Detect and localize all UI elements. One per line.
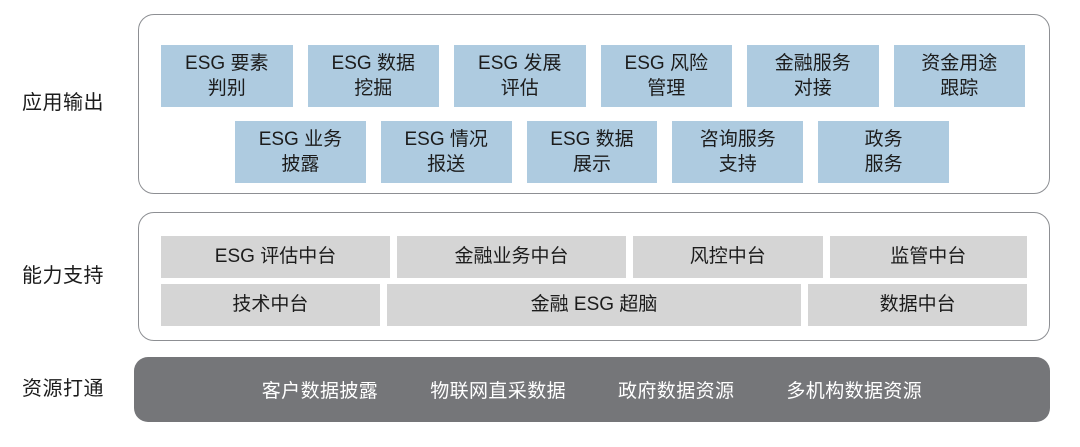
- resource-item-iot-direct-collection-data[interactable]: 物联网直采数据: [430, 376, 566, 403]
- capability-support-row-1: ESG 评估中台 金融业务中台 风控中台 监管中台: [139, 236, 1049, 278]
- app-cell-fund-usage-tracking[interactable]: 资金用途 跟踪: [894, 45, 1026, 107]
- band-label-application-output: 应用输出: [22, 93, 134, 113]
- app-cell-financial-service-connection[interactable]: 金融服务 对接: [747, 45, 879, 107]
- app-cell-esg-data-mining[interactable]: ESG 数据 挖掘: [308, 45, 440, 107]
- esg-platform-architecture-diagram: 应用输出 ESG 要素 判别 ESG 数据 挖掘 ESG 发展 评估 ESG 风…: [0, 0, 1080, 447]
- app-cell-esg-development-assessment[interactable]: ESG 发展 评估: [454, 45, 586, 107]
- resource-item-government-data-resources[interactable]: 政府数据资源: [618, 376, 734, 403]
- band-label-resource-integration: 资源打通: [22, 379, 134, 399]
- cap-cell-financial-esg-super-brain[interactable]: 金融 ESG 超脑: [387, 284, 801, 326]
- cap-cell-regulatory-platform[interactable]: 监管中台: [830, 236, 1027, 278]
- app-cell-esg-element-identification[interactable]: ESG 要素 判别: [161, 45, 293, 107]
- cap-cell-risk-control-platform[interactable]: 风控中台: [633, 236, 823, 278]
- application-output-row-1: ESG 要素 判别 ESG 数据 挖掘 ESG 发展 评估 ESG 风险 管理 …: [139, 45, 1049, 107]
- application-output-panel: ESG 要素 判别 ESG 数据 挖掘 ESG 发展 评估 ESG 风险 管理 …: [138, 14, 1050, 194]
- application-output-row-2: ESG 业务 披露 ESG 情况 报送 ESG 数据 展示 咨询服务 支持 政务…: [139, 121, 1049, 183]
- cap-cell-financial-business-platform[interactable]: 金融业务中台: [397, 236, 626, 278]
- resource-integration-bar: 客户数据披露 物联网直采数据 政府数据资源 多机构数据资源: [134, 357, 1050, 422]
- app-cell-esg-business-disclosure[interactable]: ESG 业务 披露: [235, 121, 366, 183]
- resource-item-multi-institution-data-resources[interactable]: 多机构数据资源: [786, 376, 922, 403]
- band-label-capability-support: 能力支持: [22, 266, 134, 286]
- app-cell-esg-status-reporting[interactable]: ESG 情况 报送: [381, 121, 512, 183]
- app-cell-government-service[interactable]: 政务 服务: [818, 121, 949, 183]
- app-cell-consulting-service-support[interactable]: 咨询服务 支持: [672, 121, 803, 183]
- app-cell-esg-data-display[interactable]: ESG 数据 展示: [527, 121, 658, 183]
- cap-cell-technology-platform[interactable]: 技术中台: [161, 284, 380, 326]
- cap-cell-esg-assessment-platform[interactable]: ESG 评估中台: [161, 236, 390, 278]
- cap-cell-data-platform[interactable]: 数据中台: [808, 284, 1027, 326]
- capability-support-panel: ESG 评估中台 金融业务中台 风控中台 监管中台 技术中台 金融 ESG 超脑…: [138, 212, 1050, 341]
- app-cell-esg-risk-management[interactable]: ESG 风险 管理: [601, 45, 733, 107]
- resource-item-customer-data-disclosure[interactable]: 客户数据披露: [262, 376, 378, 403]
- capability-support-row-2: 技术中台 金融 ESG 超脑 数据中台: [139, 284, 1049, 326]
